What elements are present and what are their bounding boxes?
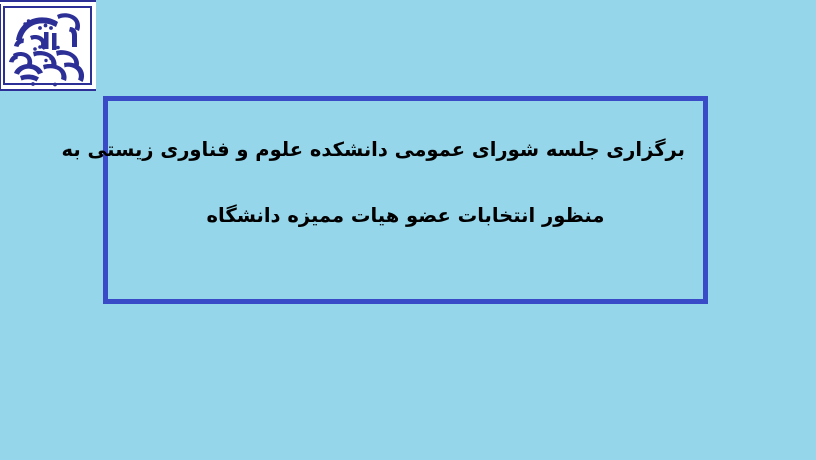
page-root: برگزاری جلسه شورای عمومی دانشکده علوم و … [0,0,816,460]
announcement-text-block: برگزاری جلسه شورای عمومی دانشکده علوم و … [108,139,703,228]
university-emblem-icon [0,2,96,93]
announcement-line-1: برگزاری جلسه شورای عمومی دانشکده علوم و … [126,139,685,161]
university-logo [0,0,96,91]
announcement-box: برگزاری جلسه شورای عمومی دانشکده علوم و … [103,96,708,304]
announcement-line-2: منظور انتخابات عضو هیات ممیزه دانشگاه [126,205,685,227]
